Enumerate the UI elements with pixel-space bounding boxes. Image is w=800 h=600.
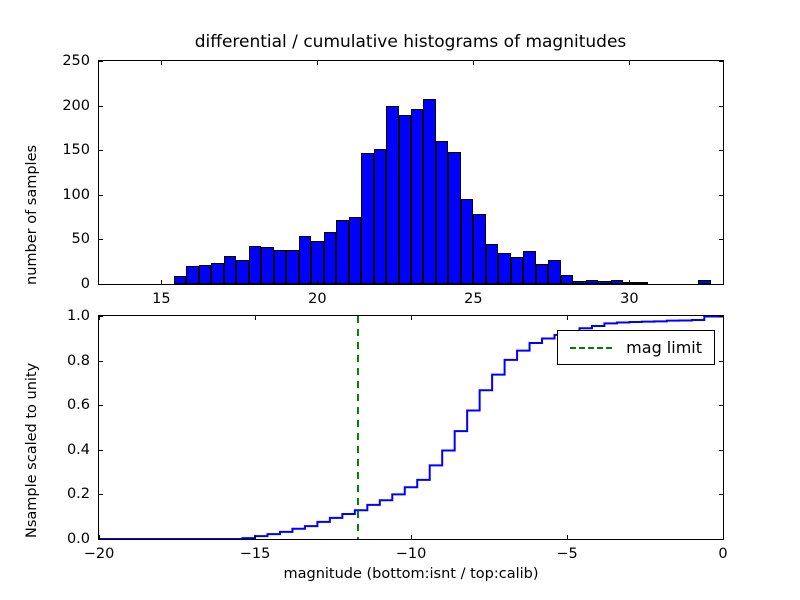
- y-tick-label: 0: [40, 276, 90, 292]
- x-tick-mark: [723, 316, 724, 320]
- y-tick-label: 250: [40, 53, 90, 69]
- y-tick-mark: [719, 494, 723, 495]
- histogram-bar: [286, 250, 298, 284]
- x-tick-mark: [473, 61, 474, 65]
- y-tick-mark: [719, 239, 723, 240]
- x-tick-mark: [629, 280, 630, 284]
- histogram-bar: [261, 247, 273, 284]
- histogram-bar: [636, 282, 648, 284]
- histogram-bar: [573, 281, 585, 284]
- histogram-bar: [386, 106, 398, 284]
- y-tick-mark: [99, 494, 103, 495]
- page-title: differential / cumulative histograms of …: [98, 32, 723, 52]
- histogram-bar: [611, 280, 623, 284]
- histogram-bar: [299, 236, 311, 284]
- y-tick-mark: [99, 239, 103, 240]
- y-tick-label: 0.8: [40, 353, 90, 369]
- x-tick-mark: [411, 316, 412, 320]
- histogram-bar: [423, 99, 435, 284]
- y-tick-label: 150: [40, 142, 90, 158]
- x-tick-mark: [567, 535, 568, 539]
- histogram-bar: [461, 199, 473, 284]
- histogram-bar: [311, 241, 323, 284]
- y-tick-mark: [99, 539, 103, 540]
- histogram-bar: [436, 141, 448, 284]
- y-tick-label: 50: [40, 231, 90, 247]
- y-tick-label: 0.2: [40, 486, 90, 502]
- histogram-bar: [598, 281, 610, 284]
- y-tick-label: 0.6: [40, 397, 90, 413]
- histogram-bar: [498, 253, 510, 284]
- x-tick-label: 25: [464, 291, 482, 307]
- x-tick-label: 20: [308, 291, 326, 307]
- histogram-bar: [561, 275, 573, 284]
- histogram-bar: [411, 109, 423, 284]
- histogram-bar: [224, 256, 236, 284]
- y-tick-mark: [99, 361, 103, 362]
- x-tick-mark: [161, 280, 162, 284]
- histogram-y-axis-title: number of samples: [24, 145, 40, 285]
- x-tick-mark: [255, 316, 256, 320]
- histogram-bar: [448, 152, 460, 284]
- y-tick-mark: [719, 106, 723, 107]
- histogram-bar: [523, 251, 535, 284]
- histogram-bar: [486, 244, 498, 284]
- y-tick-mark: [99, 150, 103, 151]
- x-tick-mark: [317, 280, 318, 284]
- x-tick-mark: [255, 535, 256, 539]
- histogram-bar: [336, 220, 348, 284]
- y-tick-mark: [99, 284, 103, 285]
- histogram-bar: [186, 266, 198, 284]
- x-tick-mark: [473, 280, 474, 284]
- histogram-bar: [586, 280, 598, 284]
- histogram-bar: [249, 246, 261, 284]
- y-tick-mark: [719, 195, 723, 196]
- y-tick-mark: [719, 150, 723, 151]
- histogram-bar: [349, 217, 361, 284]
- x-tick-mark: [723, 535, 724, 539]
- y-tick-mark: [99, 61, 103, 62]
- y-tick-label: 1.0: [40, 308, 90, 324]
- x-tick-mark: [567, 316, 568, 320]
- y-tick-mark: [99, 106, 103, 107]
- x-tick-label: 15: [152, 291, 170, 307]
- x-tick-mark: [411, 535, 412, 539]
- x-tick-label: 30: [620, 291, 638, 307]
- x-tick-label: −15: [240, 546, 271, 562]
- y-tick-mark: [99, 450, 103, 451]
- y-tick-label: 200: [40, 98, 90, 114]
- y-tick-mark: [99, 195, 103, 196]
- x-tick-label: −20: [84, 546, 115, 562]
- histogram-bar: [361, 153, 373, 284]
- histogram-bar: [199, 265, 211, 284]
- x-tick-label: −10: [396, 546, 427, 562]
- histogram-bar: [399, 115, 411, 284]
- histogram-bar: [548, 260, 560, 284]
- cumulative-x-axis-title: magnitude (bottom:isnt / top:calib): [98, 566, 724, 582]
- histogram-bar: [511, 257, 523, 284]
- histogram-bar: [211, 263, 223, 284]
- legend-label-mag-limit: mag limit: [626, 338, 702, 357]
- figure: differential / cumulative histograms of …: [0, 0, 800, 600]
- y-tick-label: 0.4: [40, 442, 90, 458]
- legend[interactable]: mag limit: [557, 330, 715, 365]
- mag-limit-dash-icon: [570, 347, 612, 349]
- x-tick-mark: [161, 61, 162, 65]
- cumulative-y-axis-title: Nsample scaled to unity: [24, 363, 40, 538]
- x-tick-label: −5: [556, 546, 577, 562]
- y-tick-label: 0.0: [40, 531, 90, 547]
- x-tick-label: 0: [718, 546, 727, 562]
- x-tick-mark: [317, 61, 318, 65]
- y-tick-label: 100: [40, 187, 90, 203]
- y-tick-mark: [719, 450, 723, 451]
- histogram-bar: [174, 276, 186, 284]
- histogram-bar: [324, 232, 336, 284]
- histogram-bar: [374, 149, 386, 284]
- y-tick-mark: [719, 284, 723, 285]
- y-tick-mark: [719, 61, 723, 62]
- y-tick-mark: [719, 316, 723, 317]
- histogram-bar: [236, 260, 248, 284]
- y-tick-mark: [719, 361, 723, 362]
- histogram-bar: [698, 280, 710, 284]
- y-tick-mark: [719, 405, 723, 406]
- histogram-bar: [473, 214, 485, 284]
- x-tick-mark: [629, 61, 630, 65]
- cumulative-histogram-axes: mag limit: [98, 315, 724, 540]
- histogram-bar: [536, 264, 548, 284]
- y-tick-mark: [99, 316, 103, 317]
- differential-histogram-axes: [98, 60, 724, 285]
- histogram-plot-area: [99, 61, 723, 284]
- histogram-bar: [274, 250, 286, 284]
- y-tick-mark: [99, 405, 103, 406]
- y-tick-mark: [719, 539, 723, 540]
